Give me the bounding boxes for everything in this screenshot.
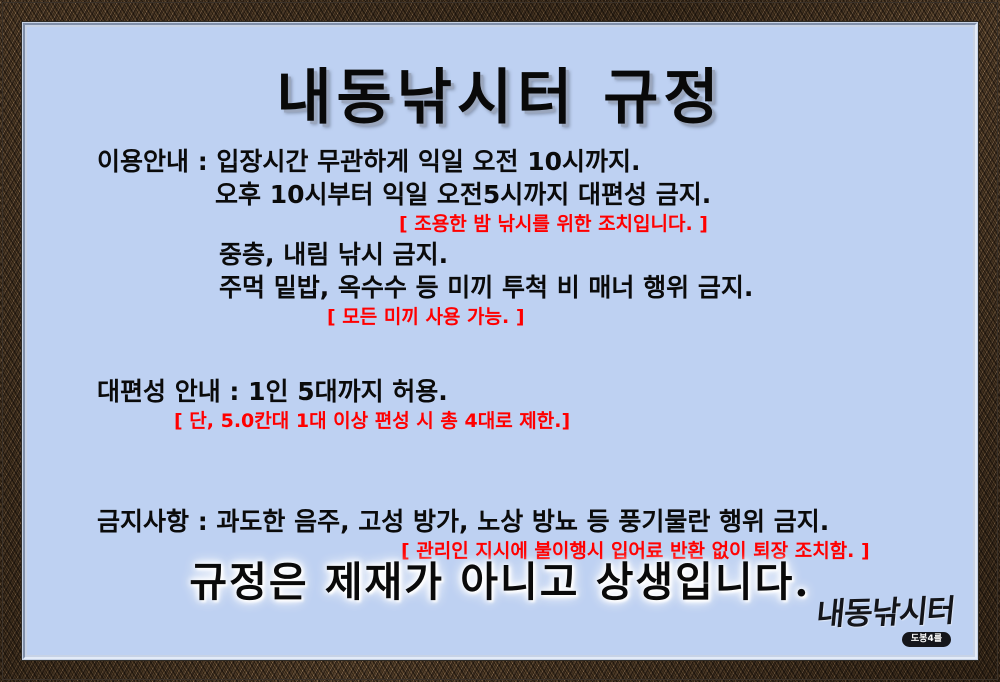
rule-line: 오후 10시부터 익일 오전5시까지 대편성 금지. — [27, 178, 973, 211]
section-spacer — [27, 479, 973, 505]
rule-line: 금지사항 : 과도한 음주, 고성 방가, 노상 방뇨 등 풍기물란 행위 금지… — [27, 505, 973, 538]
brand-badge: 도봉4를 — [902, 632, 951, 647]
rule-note: [ 단, 5.0칸대 1대 이상 편성 시 총 4대로 제한.] — [27, 408, 973, 435]
poster-inner-mat: 내동낚시터 규정 이용안내 : 입장시간 무관하게 익일 오전 10시까지. 오… — [21, 21, 979, 661]
notice-board: 내동낚시터 규정 이용안내 : 입장시간 무관하게 익일 오전 10시까지. 오… — [27, 27, 973, 655]
brand-wordmark: 내동낚시터 — [815, 585, 957, 634]
section-spacer — [27, 331, 973, 375]
rule-note: [ 조용한 밤 낚시를 위한 조치입니다. ] — [27, 211, 973, 238]
rule-line: 이용안내 : 입장시간 무관하게 익일 오전 10시까지. — [27, 145, 973, 178]
rules-body: 이용안내 : 입장시간 무관하게 익일 오전 10시까지. 오후 10시부터 익… — [27, 145, 973, 565]
poster-frame: 내동낚시터 규정 이용안내 : 입장시간 무관하게 익일 오전 10시까지. 오… — [0, 0, 1000, 682]
rule-line: 중층, 내림 낚시 금지. — [27, 238, 973, 271]
page-title: 내동낚시터 규정 — [27, 49, 973, 136]
rule-line: 대편성 안내 : 1인 5대까지 허용. — [27, 375, 973, 408]
rule-note: [ 모든 미끼 사용 가능. ] — [27, 304, 973, 331]
section-usage-guide: 이용안내 : 입장시간 무관하게 익일 오전 10시까지. 오후 10시부터 익… — [27, 145, 973, 331]
section-spacer — [27, 435, 973, 479]
rule-line: 주먹 밑밥, 옥수수 등 미끼 투척 비 매너 행위 금지. — [27, 271, 973, 304]
brand-logo: 내동낚시터 도봉4를 — [767, 587, 957, 649]
section-rod-setup-guide: 대편성 안내 : 1인 5대까지 허용. [ 단, 5.0칸대 1대 이상 편성… — [27, 375, 973, 435]
